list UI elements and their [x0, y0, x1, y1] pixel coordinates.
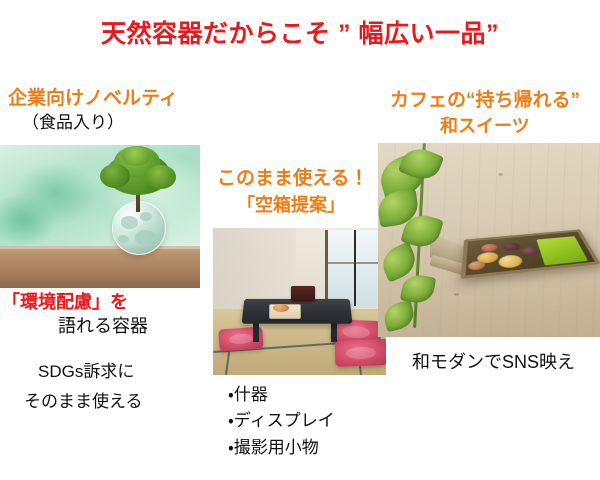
photo-eco-wooden-desk [0, 246, 200, 288]
dried-fruit [498, 254, 523, 269]
matcha-sweet [536, 236, 588, 265]
left-tagline-highlight: 「環境配慮」を [2, 288, 128, 314]
tree-foliage [122, 147, 150, 166]
slide-title: 天然容器だからこそ ” 幅広い一品” [0, 14, 600, 50]
bullet-item: ・什器 [228, 382, 335, 408]
dried-fruit [503, 242, 521, 251]
bullet-item: ・ディスプレイ [228, 408, 335, 434]
right-column-subheading: 和スイーツ [440, 116, 530, 137]
photo-bamboo-sweets-box [378, 143, 600, 337]
shoji-screen [325, 230, 386, 306]
photo-eco-globe-tree [0, 145, 200, 288]
ivy-leaf [381, 300, 416, 332]
tree-foliage [100, 164, 130, 188]
left-tagline-body: 語れる容器 [58, 316, 148, 338]
lacquer-box [291, 286, 315, 301]
dried-fruit [468, 260, 485, 270]
center-column-heading: このまま使える！ [217, 168, 368, 190]
left-column-subheading: （食品入り） [22, 113, 124, 133]
slide-canvas: 天然容器だからこそ ” 幅広い一品” 企業向けノベルティ （食品入り） 「環境配… [0, 0, 600, 480]
dried-fruit [481, 243, 497, 252]
left-column-heading: 企業向けノベルティ [8, 88, 178, 110]
left-note-line-2: そのまま使える [24, 392, 143, 412]
ivy-plant [378, 143, 450, 337]
photo-tatami-room [213, 228, 386, 375]
wood-knot [454, 293, 459, 296]
wood-knot [498, 173, 503, 176]
right-column-caption: 和モダンでSNS映え [412, 352, 575, 374]
center-column-subheading: 「空箱提案」 [237, 195, 345, 216]
right-column-heading: カフェの“持ち帰れる” [390, 90, 580, 112]
left-note-line-1: SDGs訴求に [38, 362, 134, 382]
tree-foliage [146, 165, 176, 189]
zabuton-cushion [335, 339, 386, 367]
dried-fruit [477, 251, 498, 263]
dried-fruit [521, 246, 539, 255]
food-item [273, 304, 289, 312]
center-bullet-list: ・什器 ・ディスプレイ ・撮影用小物 [228, 382, 335, 461]
bullet-item: ・撮影用小物 [228, 435, 335, 461]
